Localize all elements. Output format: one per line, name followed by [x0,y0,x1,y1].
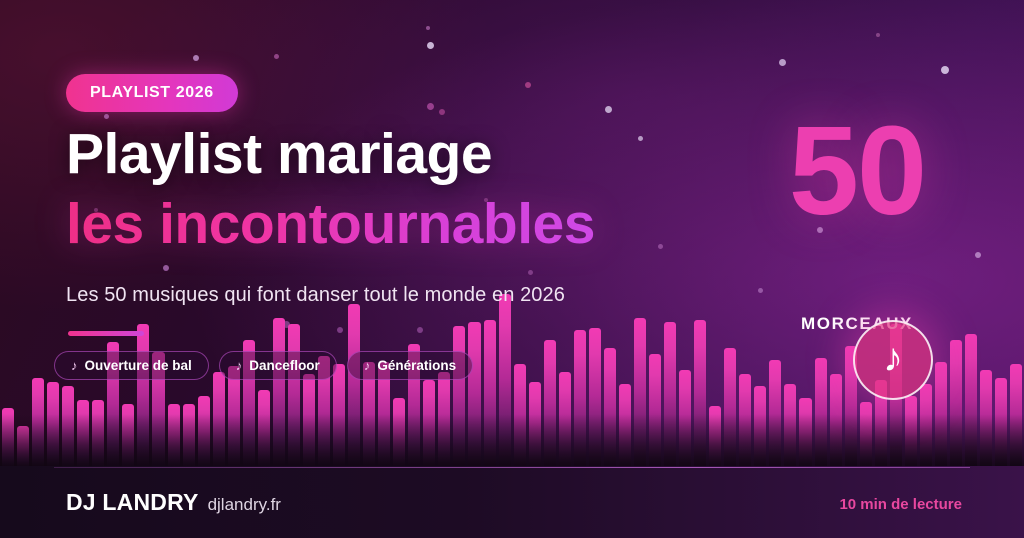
equalizer-bar [649,354,661,470]
playlist-hero-banner: PLAYLIST 2026 Playlist mariage les incon… [0,0,1024,538]
decorative-dot [426,26,430,30]
footer-brand: DJ LANDRY djlandry.fr [66,489,281,516]
decorative-dot [193,55,199,61]
brand-website: djlandry.fr [208,495,281,515]
equalizer-bar [1010,364,1022,470]
equalizer-bar [664,322,676,470]
equalizer-bar [830,374,842,470]
equalizer-bar [815,358,827,470]
equalizer-bar [589,328,601,470]
decorative-dot [605,106,612,113]
equalizer-bar [47,382,59,470]
equalizer-bar [769,360,781,470]
equalizer-bar [92,400,104,470]
equalizer-bar [950,340,962,470]
playlist-year-badge: PLAYLIST 2026 [66,74,238,112]
equalizer-bar [784,384,796,470]
equalizer-bar [604,348,616,470]
equalizer-bar [499,294,511,470]
accent-underline [68,331,144,336]
equalizer-bar [32,378,44,470]
category-tag-label: Ouverture de bal [85,358,192,373]
equalizer-bar [980,370,992,470]
decorative-dot [104,114,109,119]
equalizer-bar [574,330,586,470]
decorative-dot [658,244,663,249]
equalizer-bar [799,398,811,470]
decorative-dot [876,33,880,37]
equalizer-bar [559,372,571,470]
track-count-label: MORCEAUX [742,314,972,334]
equalizer-bar [17,426,29,470]
decorative-dot [638,136,643,141]
equalizer-bar [288,324,300,470]
brand-name: DJ LANDRY [66,489,199,516]
equalizer-bar [634,318,646,470]
equalizer-bar [619,384,631,470]
equalizer-bar [920,384,932,470]
page-title-line2: les incontournables [66,196,595,253]
equalizer-bar [198,396,210,470]
music-note-icon: ♪ [71,358,78,373]
decorative-dot [427,42,434,49]
equalizer-bar [77,400,89,470]
page-subtitle: Les 50 musiques qui font danser tout le … [66,284,565,307]
music-note-badge: ♪ [853,320,933,400]
decorative-dot [439,109,445,115]
equalizer-bar [62,386,74,470]
category-tag-list: ♪Ouverture de bal♪Dancefloor♪Générations [54,351,473,380]
equalizer-bar [965,334,977,470]
equalizer-bar [995,378,1007,470]
equalizer-bar [122,404,134,470]
category-tag-label: Générations [377,358,456,373]
track-count-number: 50 [742,108,972,234]
equalizer-bar [694,320,706,470]
category-tag[interactable]: ♪Dancefloor [219,351,337,380]
footer-divider [54,467,970,468]
equalizer-bar [860,402,872,470]
equalizer-bar [213,372,225,470]
decorative-dot [779,59,786,66]
equalizer-bar [438,372,450,470]
equalizer-bar [484,320,496,470]
decorative-dot [427,103,434,110]
equalizer-bar [453,326,465,470]
equalizer-bar [273,318,285,470]
equalizer-bar [137,324,149,470]
decorative-dot [525,82,531,88]
equalizer-bar [393,398,405,470]
decorative-dot [528,270,533,275]
decorative-dot [163,265,169,271]
equalizer-bar [168,404,180,470]
decorative-dot [975,252,981,258]
equalizer-bar [2,408,14,470]
equalizer-bar [544,340,556,470]
category-tag-label: Dancefloor [249,358,320,373]
equalizer-bar [709,406,721,470]
equalizer-bar [739,374,751,470]
equalizer-bar [514,364,526,470]
equalizer-bar [905,396,917,470]
equalizer-bar [724,348,736,470]
equalizer-bar [423,380,435,470]
category-tag[interactable]: ♪Ouverture de bal [54,351,209,380]
playlist-year-badge-label: PLAYLIST 2026 [90,84,214,102]
music-note-icon: ♪ [364,358,371,373]
category-tag[interactable]: ♪Générations [347,351,473,380]
equalizer-bar [529,382,541,470]
equalizer-bar [754,386,766,470]
equalizer-bar [228,366,240,470]
equalizer-bar [935,362,947,470]
music-note-icon: ♪ [236,358,243,373]
equalizer-bar [348,304,360,470]
decorative-dot [274,54,279,59]
equalizer-bar [679,370,691,470]
equalizer-bar [258,390,270,470]
equalizer-bar [303,374,315,470]
reading-time: 10 min de lecture [839,496,962,513]
equalizer-bar [183,404,195,470]
page-title-line1: Playlist mariage [66,126,492,183]
music-note-icon: ♪ [883,338,903,378]
decorative-dot [941,66,949,74]
equalizer-bar [468,322,480,470]
